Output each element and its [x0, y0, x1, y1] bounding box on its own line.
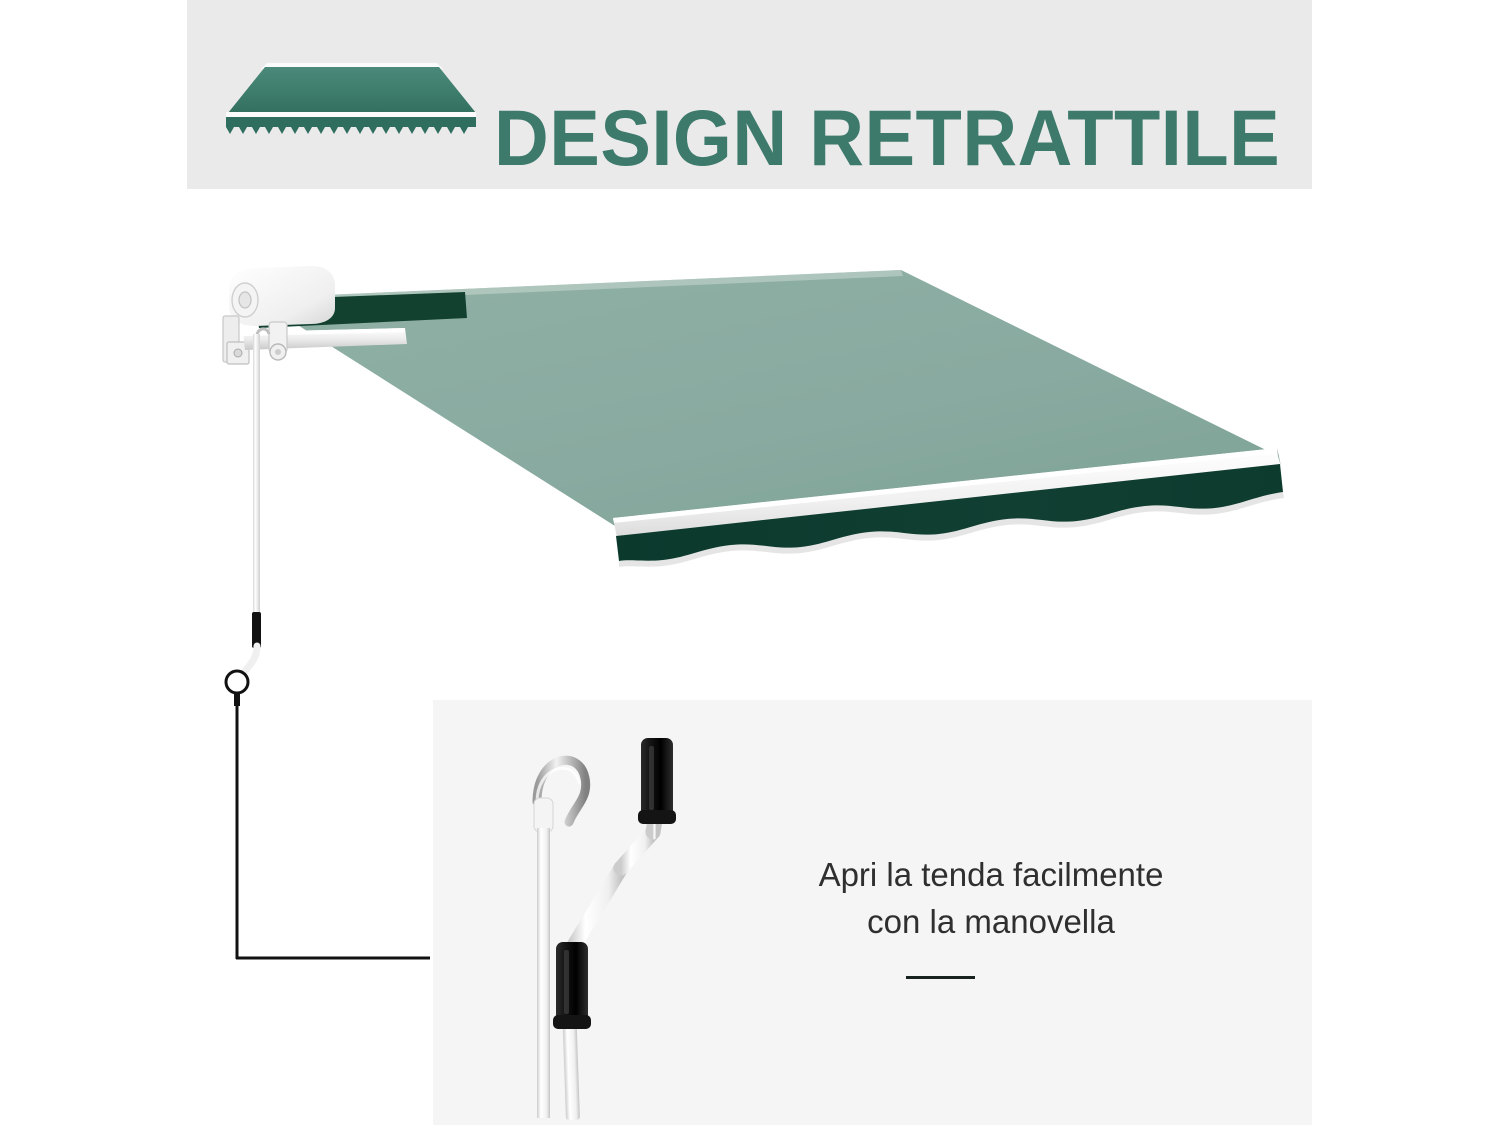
callout-leader	[200, 650, 460, 980]
bottom-grip	[556, 942, 588, 1026]
caption-line-1: Apri la tenda facilmente	[701, 852, 1281, 899]
page-title: DESIGN RETRATTILE	[494, 83, 1252, 193]
product-marketing-image: DESIGN RETRATTILE	[0, 0, 1500, 1125]
callout-circle-marker	[226, 671, 248, 693]
crank-rod	[215, 300, 345, 700]
crank-handle-inset: Apri la tenda facilmente con la manovell…	[433, 700, 1312, 1125]
awning-illustration	[215, 260, 1305, 620]
top-grip	[641, 738, 673, 822]
caption-line-2: con la manovella	[701, 899, 1281, 946]
awning-icon	[221, 56, 476, 138]
z-crank-handle	[553, 738, 676, 1120]
header-band: DESIGN RETRATTILE	[187, 0, 1312, 189]
caption-divider	[906, 976, 975, 979]
inset-caption: Apri la tenda facilmente con la manovell…	[701, 852, 1281, 946]
